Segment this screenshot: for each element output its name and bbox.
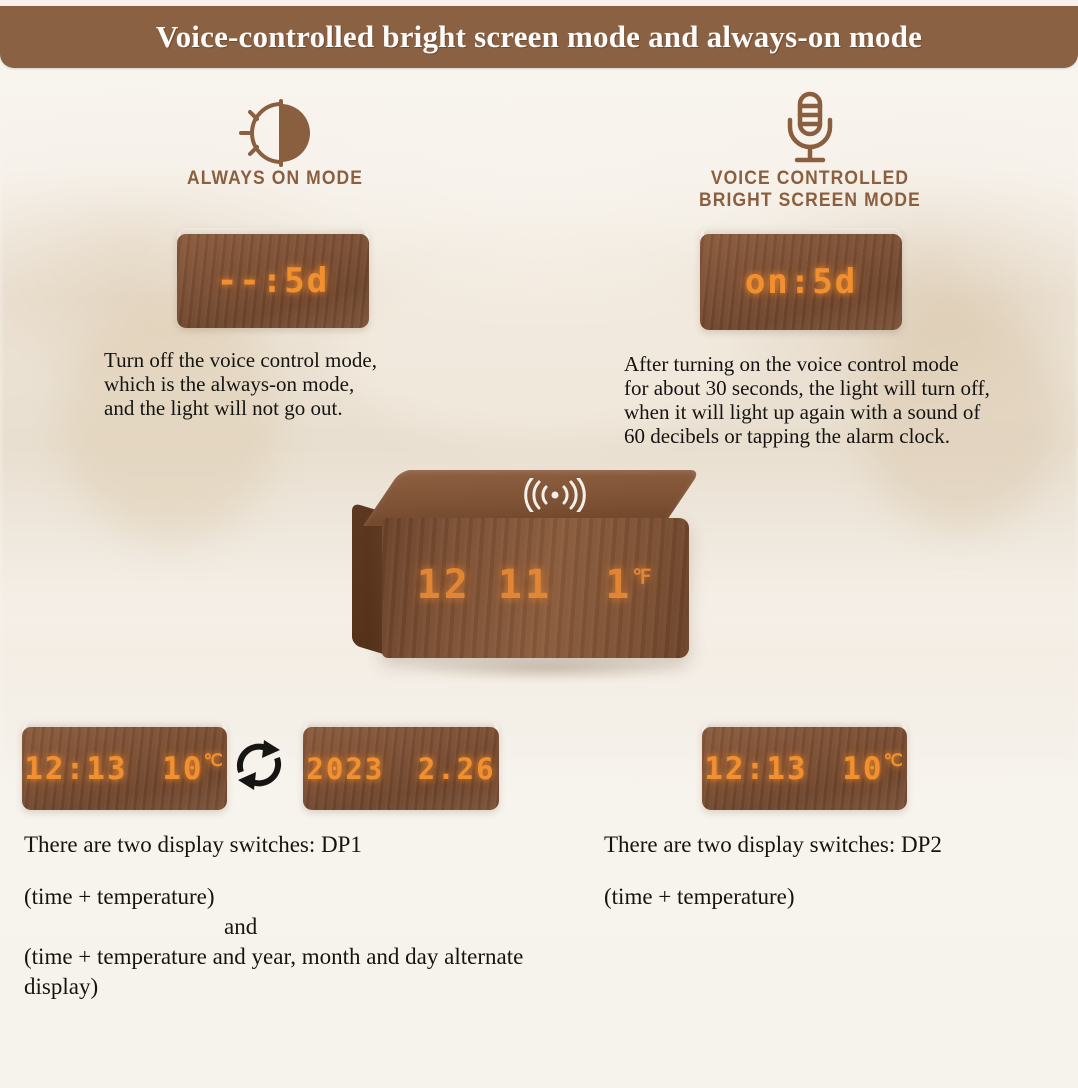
caption-line: (time + temperature and year, month and … [24,942,524,1002]
caption-line: (time + temperature) [604,882,1064,912]
clock-display-voice-controlled: on:5d [700,228,902,330]
caption-dp2: There are two display switches: DP2 (tim… [604,830,1064,912]
brightness-half-sun-icon [145,96,405,168]
led-unit: ℃ [204,751,225,771]
description-line: which is the always-on mode, [104,372,504,396]
clock-body: 2023 2.26 [303,727,499,810]
led-time: 12:13 [24,751,127,787]
clock-body: 12:13 10℃ [22,727,227,810]
clock-dp1-time-temp: 12:13 10℃ [22,722,227,810]
hero-led-readout: 12 11 1℉ [382,562,689,608]
description-line: and the light will not go out. [104,396,504,420]
description-line: 60 decibels or tapping the alarm clock. [624,424,1044,448]
led-unit: ℃ [884,751,905,771]
mode-label-voice-controlled-line2: BRIGHT SCREEN MODE [690,190,929,212]
description-line: for about 30 seconds, the light will tur… [624,376,1044,400]
clock-body: --:5d [177,234,369,328]
led-date: 2.26 [418,752,496,786]
page-title: Voice-controlled bright screen mode and … [156,19,922,55]
description-line: After turning on the voice control mode [624,352,1044,376]
refresh-cycle-icon [228,736,290,799]
led-time: 12:13 [704,751,807,787]
hero-led-time: 12 11 [417,562,552,608]
description-line: when it will light up again with a sound… [624,400,1044,424]
clock-body: on:5d [700,234,902,330]
hero-led-temp: 1 [605,562,632,608]
microphone-icon [680,96,940,168]
hero-product-clock: 12 11 1℉ [352,470,712,685]
led-text-always-on: --:5d [217,261,329,301]
mode-label-voice-controlled-line1: VOICE CONTROLLED [690,168,929,190]
header-banner: Voice-controlled bright screen mode and … [0,6,1078,68]
led-temp: 10 [842,751,883,787]
hero-led-unit: ℉ [632,565,654,589]
caption-line: (time + temperature) [24,882,524,912]
description-always-on: Turn off the voice control mode, which i… [104,348,504,420]
led-text-voice-controlled: on:5d [745,262,857,302]
led-readout: 2023 2.26 [306,752,495,786]
wireless-charging-icon [517,478,593,517]
clock-display-always-on: --:5d [177,228,369,328]
clock-dp1-year-date: 2023 2.26 [303,722,499,810]
led-temp: 10 [162,751,203,787]
caption-line: There are two display switches: DP1 [24,830,524,860]
caption-dp1: There are two display switches: DP1 (tim… [24,830,524,1002]
mode-label-always-on: ALWAYS ON MODE [155,168,394,190]
description-line: Turn off the voice control mode, [104,348,504,372]
clock-dp2-time-temp: 12:13 10℃ [702,722,907,810]
caption-and: and [24,912,524,942]
led-year: 2023 [306,752,384,786]
led-readout: 12:13 10℃ [704,751,904,787]
mode-block-always-on: ALWAYS ON MODE [145,96,405,190]
background-bokeh-left [60,300,280,540]
mode-block-voice-controlled: VOICE CONTROLLED BRIGHT SCREEN MODE [680,96,940,212]
description-voice-controlled: After turning on the voice control mode … [624,352,1044,448]
hero-shadow [402,655,692,681]
caption-line: There are two display switches: DP2 [604,830,1064,860]
clock-body: 12:13 10℃ [702,727,907,810]
led-readout: 12:13 10℃ [24,751,224,787]
